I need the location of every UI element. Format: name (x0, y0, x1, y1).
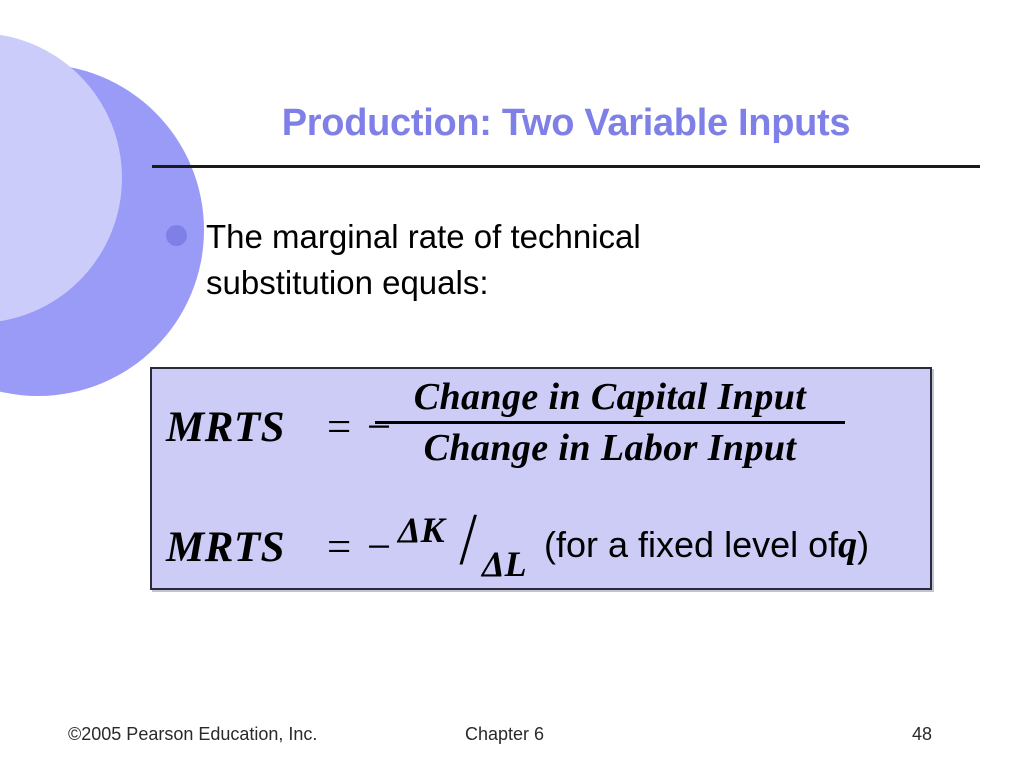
equation1-numerator: Change in Capital Input (370, 371, 850, 421)
bullet-line-2: substitution equals: (206, 260, 784, 306)
slide-footer: ©2005 Pearson Education, Inc. Chapter 6 … (0, 724, 1024, 754)
equation2-note-group: (for a fixed level ofq) (544, 523, 869, 567)
decorative-circle-light (0, 33, 122, 323)
footer-copyright: ©2005 Pearson Education, Inc. (68, 724, 317, 745)
formula-box: MRTS = − Change in Capital Input Change … (150, 367, 932, 590)
equation1-lhs: MRTS (166, 403, 285, 452)
equation2: MRTS = − ΔK / ΔL (for a fixed level ofq) (166, 509, 926, 585)
footer-chapter: Chapter 6 (465, 724, 544, 745)
list-item: The marginal rate of technical substitut… (164, 214, 784, 306)
decorative-circles (0, 0, 320, 420)
bullet-dot-icon (166, 225, 187, 246)
title-divider (152, 165, 980, 168)
slide-canvas: Production: Two Variable Inputs The marg… (0, 0, 1024, 767)
equation2-numerator: ΔK (398, 509, 445, 551)
equation1-equals-sign: = (327, 403, 351, 452)
equation1-denominator: Change in Labor Input (370, 424, 850, 470)
equation2-note-text: (for a fixed level of (544, 524, 838, 565)
bullet-list: The marginal rate of technical substitut… (164, 214, 784, 306)
bullet-line-1: The marginal rate of technical (206, 214, 784, 260)
slide-title: Production: Two Variable Inputs (152, 102, 980, 145)
equation2-variable-q: q (838, 524, 857, 566)
equation1-fraction: Change in Capital Input Change in Labor … (370, 371, 850, 470)
equation2-paren-close: ) (857, 524, 869, 565)
footer-page-number: 48 (912, 724, 932, 745)
equation2-minus-sign: − (367, 523, 391, 572)
equation2-denominator: ΔL (482, 543, 527, 585)
equation2-equals-sign: = (327, 523, 351, 572)
equation2-solidus: / (460, 503, 477, 577)
equation2-fraction: ΔK / ΔL (398, 509, 544, 585)
equation2-lhs: MRTS (166, 523, 285, 572)
